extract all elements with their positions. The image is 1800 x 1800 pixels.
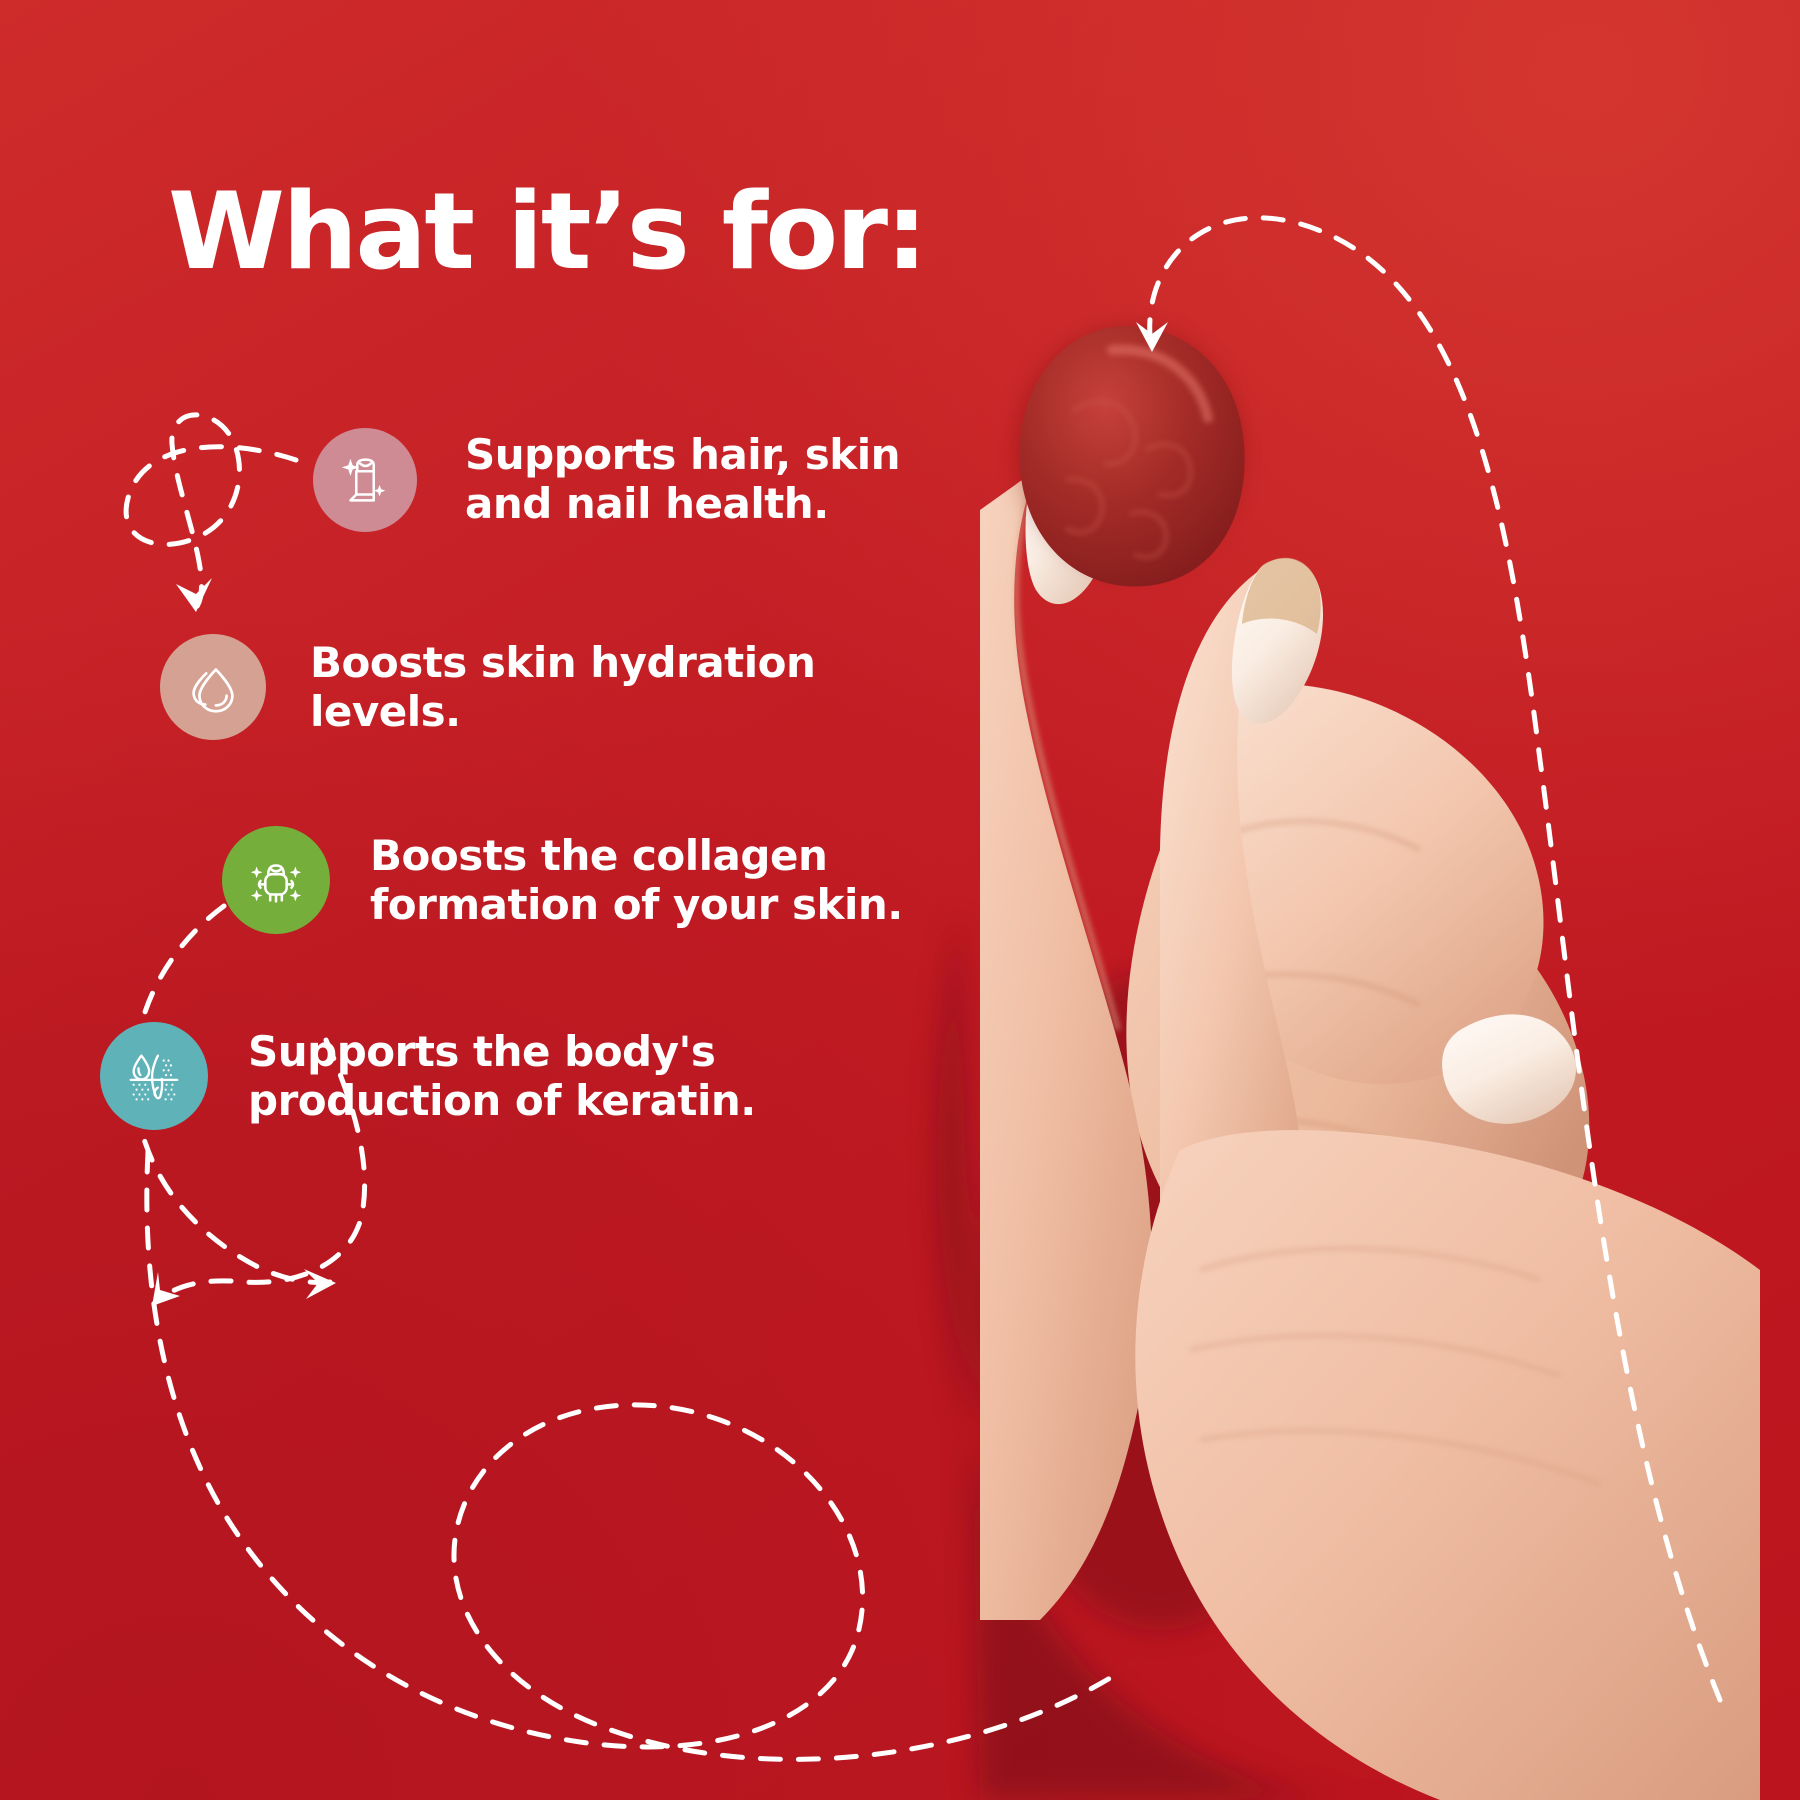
gummy-body	[1019, 326, 1244, 586]
benefit-label-hair-skin-nail: Supports hair, skin and nail health.	[465, 430, 900, 528]
benefit-row-collagen-formation: Boosts the collagen formation of your sk…	[222, 826, 903, 934]
hand-back	[1135, 1130, 1760, 1800]
thumb	[980, 456, 1152, 1620]
dashed-path-loop-one	[126, 415, 296, 608]
nail-index-finger	[1232, 558, 1323, 723]
curled-fingers	[1126, 683, 1589, 1435]
hand-holding-gummy-photo	[860, 150, 1800, 1800]
arrowhead-to-gummy	[1136, 322, 1168, 352]
benefit-label-skin-hydration: Boosts skin hydration levels.	[310, 638, 815, 736]
nail-sparkle-icon	[313, 428, 417, 532]
benefit-label-keratin-production: Supports the body's production of kerati…	[248, 1027, 756, 1125]
benefit-row-hair-skin-nail: Supports hair, skin and nail health.	[313, 428, 900, 532]
benefit-row-skin-hydration: Boosts skin hydration levels.	[160, 634, 815, 740]
index-finger	[1160, 558, 1323, 1300]
nail-thumb-tip	[1031, 456, 1102, 522]
benefit-label-collagen-formation: Boosts the collagen formation of your sk…	[370, 831, 903, 929]
hand-shadow	[938, 910, 1400, 1800]
nail-index-tip	[1242, 558, 1321, 634]
hair-follicle-skin-icon	[100, 1022, 208, 1130]
gummy-texture	[1066, 401, 1191, 557]
arrowhead-to-droplet	[176, 578, 212, 612]
water-droplet-icon	[160, 634, 266, 740]
arrowhead-to-keratin	[152, 1272, 180, 1306]
dashed-path-top-right	[1150, 218, 1720, 1700]
benefit-row-keratin-production: Supports the body's production of kerati…	[100, 1022, 756, 1130]
collagen-molecule-sparkle-icon	[222, 826, 330, 934]
nail-middle-finger	[1430, 1192, 1569, 1305]
gummy-highlight	[1112, 350, 1208, 418]
dashed-path-bottom-swirl	[147, 1152, 1120, 1759]
arrowhead-to-collagen	[304, 1269, 336, 1299]
promo-graphic: What it’s for:	[0, 0, 1800, 1800]
nail-ring-finger	[1442, 1014, 1576, 1123]
page-title: What it’s for:	[168, 178, 925, 286]
nail-pinky-finger	[1355, 1324, 1487, 1435]
nail-thumb	[1026, 457, 1109, 604]
red-gummy-vitamin	[1019, 326, 1244, 586]
